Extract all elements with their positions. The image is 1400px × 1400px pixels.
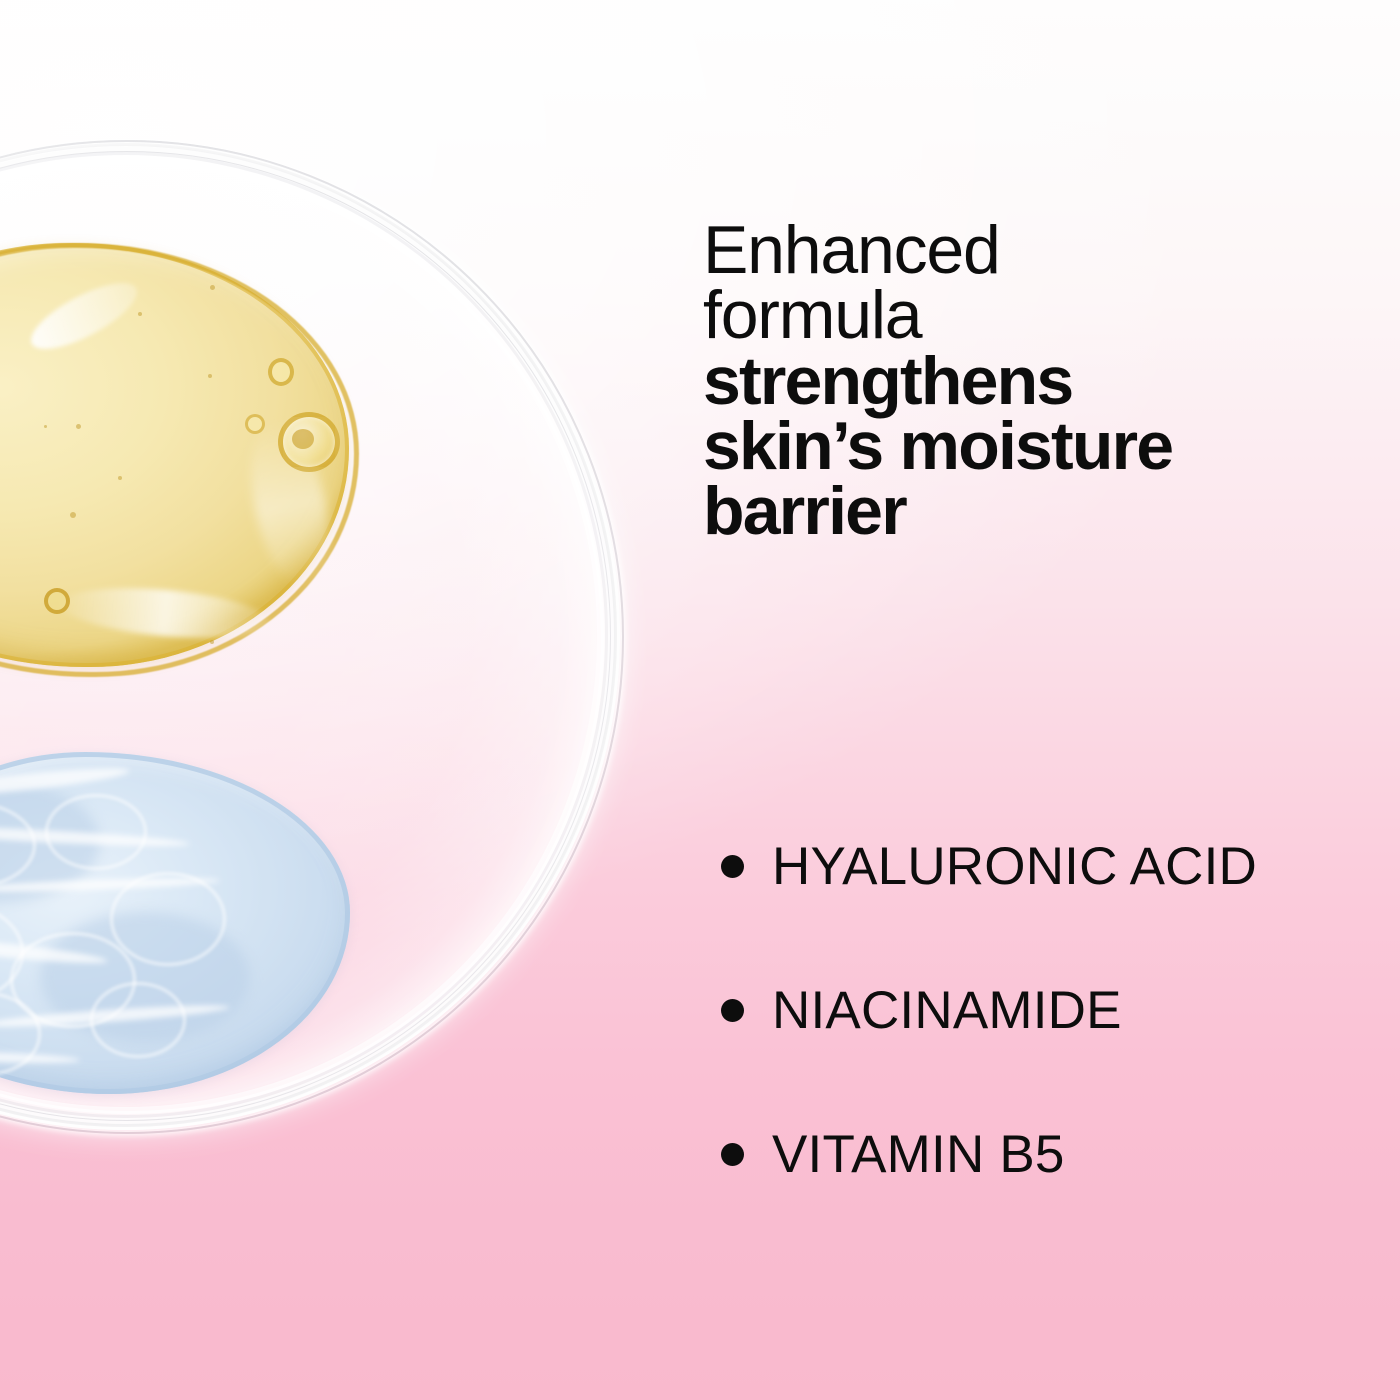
page-title: Enhanced formula strengthens skin’s mois… [703, 218, 1343, 544]
list-item: NIACINAMIDE [721, 982, 1361, 1038]
headline-line-4: skin’s moisture [703, 414, 1343, 479]
list-item: HYALURONIC ACID [721, 838, 1361, 894]
list-item: VITAMIN B5 [721, 1126, 1361, 1182]
headline-line-1: Enhanced [703, 218, 1343, 283]
headline-line-2: formula [703, 283, 1343, 348]
product-claim-graphic: Enhanced formula strengthens skin’s mois… [0, 0, 1400, 1400]
ingredient-label: VITAMIN B5 [772, 1128, 1065, 1181]
ingredient-list: HYALURONIC ACID NIACINAMIDE VITAMIN B5 [721, 838, 1361, 1182]
headline-line-3: strengthens [703, 349, 1343, 414]
copy-column: Enhanced formula strengthens skin’s mois… [703, 0, 1363, 1400]
bullet-icon [721, 999, 744, 1022]
bullet-icon [721, 1143, 744, 1166]
ingredient-label: NIACINAMIDE [772, 984, 1122, 1037]
ingredient-label: HYALURONIC ACID [772, 840, 1257, 893]
headline-line-5: barrier [703, 479, 1343, 544]
bullet-icon [721, 855, 744, 878]
